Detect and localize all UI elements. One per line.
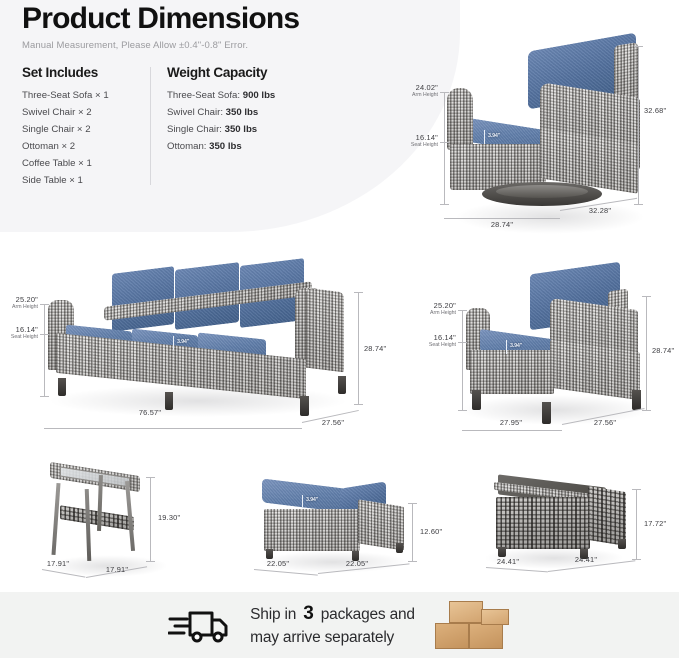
shipping-text: Ship in 3 packages and may arrive separa… [250, 601, 415, 649]
dimension-line-left [44, 304, 45, 396]
dimension-tick [634, 204, 643, 205]
seat-height-dimension: 16.14" Seat Height [366, 133, 438, 148]
list-item: Ottoman × 2 [22, 138, 150, 155]
list-item: Three-Seat Sofa: 900 lbs [167, 87, 397, 104]
dimension-tick [458, 342, 467, 343]
figure-coffee-table: 17.72" 24.41" 24.41" [460, 455, 679, 593]
page-title: Product Dimensions [22, 2, 462, 37]
weight-capacity-column: Weight Capacity Three-Seat Sofa: 900 lbs… [167, 65, 397, 189]
dimension-tick [354, 292, 363, 293]
box-top [449, 601, 483, 623]
dimension-tick [146, 477, 155, 478]
list-item: Ottoman: 350 lbs [167, 138, 397, 155]
cushion-thickness-marker [484, 130, 485, 144]
dimension-tick [632, 489, 641, 490]
height-dimension: 12.60" [420, 527, 442, 536]
arm-height-value: 24.02" [416, 83, 438, 92]
ship-text-after: packages and [321, 606, 415, 623]
dimension-line-right [638, 46, 639, 204]
seat-height-label: Seat Height [0, 334, 38, 340]
box-right [469, 623, 503, 649]
width-dimension: 22.05" [322, 559, 392, 568]
box-left [435, 623, 469, 649]
cushion-thickness-label: 3.94" [488, 133, 500, 139]
seat-height-label: Seat Height [366, 142, 438, 148]
product-dimensions-infographic: Product Dimensions Manual Measurement, P… [0, 0, 679, 658]
cushion-thickness-label: 3.94" [510, 343, 522, 349]
cushion-thickness-marker [302, 495, 303, 507]
weight-value: 900 lbs [243, 90, 276, 101]
overall-height-dimension: 28.74" [364, 344, 386, 353]
leg [58, 378, 66, 396]
weight-label: Ottoman: [167, 141, 206, 152]
height-dimension: 19.30" [158, 513, 180, 522]
swivel-base-top [496, 185, 588, 198]
dimension-tick [354, 404, 363, 405]
leg [632, 390, 641, 410]
table-body-front [496, 497, 590, 549]
right-arm-side [306, 288, 344, 373]
packages-icon [433, 599, 511, 651]
weight-value: 350 lbs [225, 124, 258, 135]
weight-capacity-list: Three-Seat Sofa: 900 lbs Swivel Chair: 3… [167, 87, 397, 155]
weight-label: Swivel Chair: [167, 107, 223, 118]
seat-height-value: 16.14" [434, 333, 456, 342]
ship-text-line2: may arrive separately [250, 629, 394, 646]
figure-single-chair: 3.94" 25.20" Arm Height 16.14" Seat Heig… [410, 250, 679, 450]
width-dimension: 28.74" [456, 220, 548, 229]
dimension-tick [40, 334, 49, 335]
leg [85, 489, 92, 561]
leg [266, 549, 273, 559]
box-back [481, 609, 509, 625]
leg [51, 483, 60, 555]
arm-height-dimension: 25.20" Arm Height [0, 295, 38, 310]
list-item: Side Table × 1 [22, 172, 150, 189]
figure-ottoman: 3.94" 12.60" 22.05" 22.05" [240, 455, 440, 593]
arm-height-label: Arm Height [0, 304, 38, 310]
weight-value: 350 lbs [209, 141, 242, 152]
leg [498, 547, 506, 557]
seat-height-dimension: 16.14" Seat Height [388, 333, 456, 348]
dimension-line-right [358, 292, 359, 404]
dimension-line-height [636, 489, 637, 559]
cushion-thickness-label: 3.94" [177, 339, 189, 345]
depth-dimension: 27.56" [302, 418, 364, 427]
chair-base-front [470, 350, 554, 394]
ship-text-before: Ship in [250, 606, 296, 623]
list-item: Single Chair × 2 [22, 121, 150, 138]
package-count: 3 [300, 601, 316, 627]
depth-dimension: 24.41" [478, 557, 538, 566]
weight-label: Three-Seat Sofa: [167, 90, 240, 101]
set-includes-column: Set Includes Three-Seat Sofa × 1 Swivel … [22, 65, 150, 189]
list-item: Swivel Chair × 2 [22, 104, 150, 121]
arm-height-value: 25.20" [16, 295, 38, 304]
list-item: Single Chair: 350 lbs [167, 121, 397, 138]
dimension-tick [440, 204, 449, 205]
list-item: Coffee Table × 1 [22, 155, 150, 172]
seat-height-label: Seat Height [388, 342, 456, 348]
dimension-line-width [44, 428, 302, 429]
leg [618, 539, 626, 549]
dimension-line-height [412, 503, 413, 561]
width-dimension: 76.57" [110, 408, 190, 417]
dimension-tick [458, 310, 467, 311]
overall-height-dimension: 28.74" [652, 346, 674, 355]
seat-height-value: 16.14" [416, 133, 438, 142]
dimension-tick [642, 296, 651, 297]
leg [472, 390, 481, 410]
width-dimension: 27.95" [468, 418, 554, 427]
dimension-tick [440, 92, 449, 93]
depth-dimension: 22.05" [248, 559, 308, 568]
dimension-tick [40, 304, 49, 305]
measurement-disclaimer: Manual Measurement, Please Allow ±0.4"-0… [22, 40, 462, 51]
cushion-thickness-marker [506, 340, 507, 354]
dimension-line-height [150, 477, 151, 561]
column-divider [150, 67, 151, 185]
leg [396, 543, 403, 553]
dimension-line-left [462, 310, 463, 410]
shipping-banner: Ship in 3 packages and may arrive separa… [0, 592, 679, 658]
dimension-tick [634, 46, 643, 47]
dimension-tick [642, 410, 651, 411]
dimension-tick [146, 561, 155, 562]
weight-capacity-title: Weight Capacity [167, 65, 397, 80]
figure-swivel-chair: 3.94" 24.02" Arm Height 16.14" Seat Heig… [400, 40, 679, 240]
weight-label: Single Chair: [167, 124, 222, 135]
arm-height-dimension: 24.02" Arm Height [366, 83, 438, 98]
seat-height-value: 16.14" [16, 325, 38, 334]
depth-dimension: 32.28" [564, 206, 636, 215]
set-includes-list: Three-Seat Sofa × 1 Swivel Chair × 2 Sin… [22, 87, 150, 189]
dimension-tick [440, 142, 449, 143]
seat-height-dimension: 16.14" Seat Height [0, 325, 38, 340]
depth-dimension: 17.91" [34, 559, 82, 568]
dimension-tick [458, 410, 467, 411]
weight-value: 350 lbs [226, 107, 259, 118]
arm-height-dimension: 25.20" Arm Height [388, 301, 456, 316]
overall-height-dimension: 32.68" [644, 106, 666, 115]
arm-height-label: Arm Height [366, 92, 438, 98]
arm-height-label: Arm Height [388, 310, 456, 316]
dimension-tick [40, 396, 49, 397]
cushion-thickness-label: 3.94" [306, 497, 318, 503]
arm-height-value: 25.20" [434, 301, 456, 310]
leg [300, 396, 309, 416]
dimension-line-right [646, 296, 647, 410]
dimension-line-width [462, 430, 562, 431]
leg [338, 376, 346, 394]
left-armrest [447, 88, 473, 150]
dimension-tick [408, 561, 417, 562]
list-item: Three-Seat Sofa × 1 [22, 87, 150, 104]
depth-dimension: 27.56" [566, 418, 644, 427]
dimension-line-width [444, 218, 560, 219]
figure-three-seat-sofa: 3.94" 25.20" Arm Height 16.14" Seat Heig… [0, 250, 420, 450]
ottoman-base-front [264, 509, 360, 551]
height-dimension: 17.72" [644, 519, 666, 528]
dimension-tick [408, 503, 417, 504]
set-includes-title: Set Includes [22, 65, 150, 80]
cushion-thickness-marker [173, 336, 174, 350]
width-dimension: 17.91" [86, 565, 148, 574]
list-item: Swivel Chair: 350 lbs [167, 104, 397, 121]
figure-side-table: 19.30" 17.91" 17.91" [20, 455, 240, 593]
delivery-truck-icon [168, 605, 232, 645]
dimension-line-left [444, 92, 445, 204]
width-dimension: 24.41" [552, 555, 620, 564]
table-body-side [588, 486, 626, 546]
